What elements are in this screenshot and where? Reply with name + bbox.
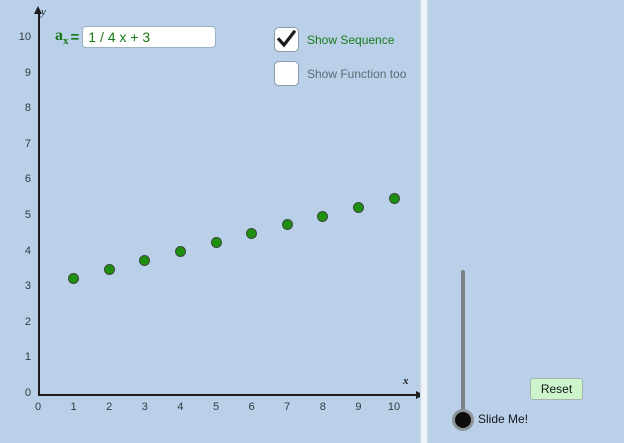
- sequence-point[interactable]: [104, 264, 115, 275]
- x-axis-line: [38, 394, 420, 396]
- graphics-view-panel: y x 012345678910 012345678910 ax = Show …: [0, 0, 420, 443]
- x-tick-label: 2: [97, 401, 121, 413]
- formula-label-base: a: [55, 27, 63, 44]
- x-tick-label: 8: [311, 401, 335, 413]
- y-tick-label: 2: [7, 316, 31, 328]
- checkmark-icon: [277, 30, 296, 49]
- x-tick-label: 5: [204, 401, 228, 413]
- sequence-point[interactable]: [68, 273, 79, 284]
- formula-equals-sign: =: [71, 29, 80, 46]
- show-function-checkbox-row[interactable]: Show Function too: [274, 61, 406, 86]
- y-tick-label: 5: [7, 209, 31, 221]
- sequence-point[interactable]: [175, 246, 186, 257]
- sequence-point[interactable]: [282, 219, 293, 230]
- panel-divider[interactable]: [420, 0, 428, 443]
- y-tick-label: 6: [7, 173, 31, 185]
- x-axis-label: x: [403, 375, 409, 387]
- sequence-point[interactable]: [246, 228, 257, 239]
- sequence-point[interactable]: [317, 211, 328, 222]
- show-sequence-checkbox-row[interactable]: Show Sequence: [274, 27, 394, 52]
- x-tick-label: 10: [382, 401, 406, 413]
- formula-row: ax =: [55, 26, 216, 48]
- side-panel: [429, 0, 624, 443]
- y-tick-label: 9: [7, 67, 31, 79]
- x-tick-label: 6: [240, 401, 264, 413]
- y-axis-line: [38, 12, 40, 396]
- y-tick-label: 7: [7, 138, 31, 150]
- show-sequence-checkbox[interactable]: [274, 27, 299, 52]
- formula-input[interactable]: [82, 26, 216, 48]
- x-tick-label: 0: [26, 401, 50, 413]
- sequence-point[interactable]: [139, 255, 150, 266]
- slider-handle[interactable]: [452, 409, 474, 431]
- formula-label: ax: [55, 27, 69, 47]
- sequence-point[interactable]: [353, 202, 364, 213]
- x-tick-label: 9: [346, 401, 370, 413]
- y-tick-label: 10: [7, 31, 31, 43]
- slider-label: Slide Me!: [478, 412, 528, 426]
- x-tick-label: 7: [275, 401, 299, 413]
- reset-button[interactable]: Reset: [530, 378, 583, 400]
- app-root: y x 012345678910 012345678910 ax = Show …: [0, 0, 624, 443]
- y-tick-label: 0: [7, 387, 31, 399]
- slider-track[interactable]: [461, 270, 465, 422]
- show-function-label: Show Function too: [307, 67, 406, 81]
- x-tick-label: 3: [133, 401, 157, 413]
- sequence-point[interactable]: [389, 193, 400, 204]
- y-tick-label: 4: [7, 245, 31, 257]
- show-sequence-label: Show Sequence: [307, 33, 394, 47]
- y-tick-label: 8: [7, 102, 31, 114]
- y-tick-label: 3: [7, 280, 31, 292]
- sequence-point[interactable]: [211, 237, 222, 248]
- x-tick-label: 1: [62, 401, 86, 413]
- y-axis-label: y: [41, 6, 46, 18]
- formula-label-subscript: x: [63, 35, 69, 47]
- y-tick-label: 1: [7, 351, 31, 363]
- show-function-checkbox[interactable]: [274, 61, 299, 86]
- x-tick-label: 4: [168, 401, 192, 413]
